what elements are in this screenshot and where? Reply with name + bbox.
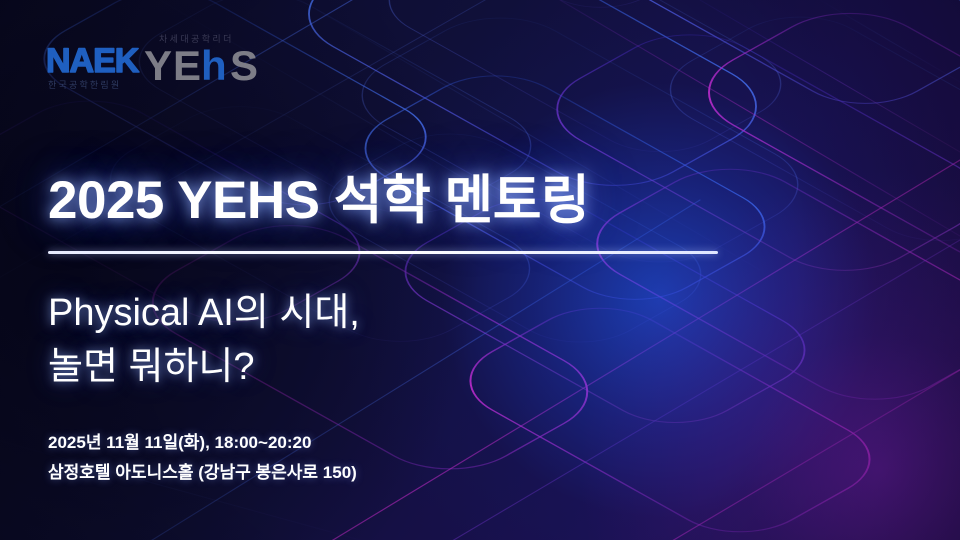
logo-yehs-wordmark: Y bbox=[144, 42, 172, 89]
title-divider bbox=[48, 251, 718, 254]
event-details: 2025년 11월 11일(화), 18:00~20:20 삼정호텔 아도니스홀… bbox=[48, 428, 357, 488]
event-datetime: 2025년 11월 11일(화), 18:00~20:20 bbox=[48, 428, 357, 458]
subtitle-line-2: 놀면 뭐하니? bbox=[48, 340, 360, 394]
subtitle-line-1: Physical AI의 시대, bbox=[48, 286, 360, 340]
logo-yehs-e: E bbox=[173, 42, 200, 89]
logo-naek-wordmark: NAEK bbox=[46, 42, 140, 80]
svg-text:NAEK: NAEK bbox=[46, 42, 140, 80]
event-poster: 차세대공학리더 NAEK 한국공학한림원 Y E h S 2025 YEHS 석… bbox=[0, 0, 960, 540]
poster-content: 차세대공학리더 NAEK 한국공학한림원 Y E h S 2025 YEHS 석… bbox=[0, 0, 960, 540]
page-title: 2025 YEHS 석학 멘토링 bbox=[48, 158, 589, 234]
logo-yehs-h: h bbox=[201, 42, 226, 89]
logo-yehs-s: S bbox=[230, 42, 257, 89]
event-subtitle: Physical AI의 시대, 놀면 뭐하니? bbox=[48, 286, 360, 394]
logo-naek-subtext: 한국공학한림원 bbox=[48, 79, 121, 90]
naek-yehs-logo: 차세대공학리더 NAEK 한국공학한림원 Y E h S bbox=[46, 28, 296, 100]
event-venue: 삼정호텔 아도니스홀 (강남구 봉은사로 150) bbox=[48, 458, 357, 488]
